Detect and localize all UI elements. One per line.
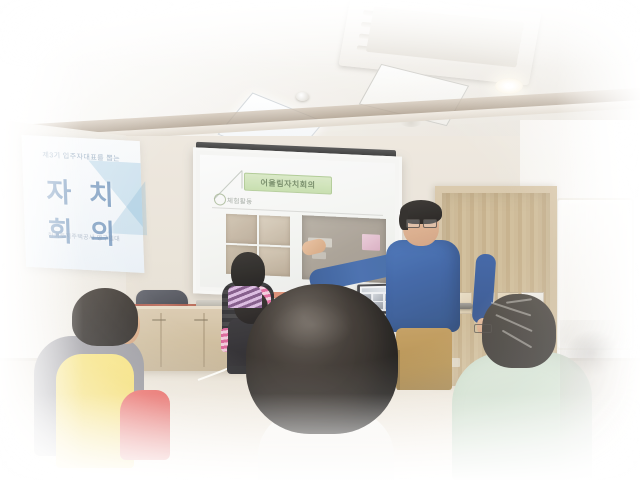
right-person-glasses	[474, 324, 492, 333]
slide-photo	[226, 214, 257, 244]
wall-banner: 제3기 입주자대표를 뽑는 자 치 회 의 한국토지주택공사 영구임대	[11, 122, 157, 289]
slide-title-text: 어울림자치회의	[260, 177, 315, 190]
sprinkler-head	[296, 92, 309, 101]
slide-subtitle-text: 체험활동	[227, 195, 253, 206]
left-person-hair	[72, 288, 138, 346]
seated-person-center	[236, 284, 416, 480]
seated-person-far-right	[560, 320, 640, 480]
seated-person-left	[28, 288, 178, 480]
slide-title-banner: 어울림자치회의	[244, 173, 332, 195]
ceiling-downlight	[495, 78, 523, 94]
slide-photo	[259, 215, 290, 245]
center-person-hair-highlight	[270, 300, 354, 350]
far-right-person-hair	[566, 330, 620, 376]
photo-scene: 제3기 입주자대표를 뽑는 자 치 회 의 한국토지주택공사 영구임대 어울림자…	[0, 0, 640, 480]
presenter-glasses	[406, 219, 436, 226]
banner-top-text: 제3기 입주자대표를 뽑는	[30, 149, 133, 164]
right-person-hair	[482, 294, 556, 368]
left-person-red-item	[120, 390, 170, 460]
slide-bullet-icon	[214, 193, 226, 206]
